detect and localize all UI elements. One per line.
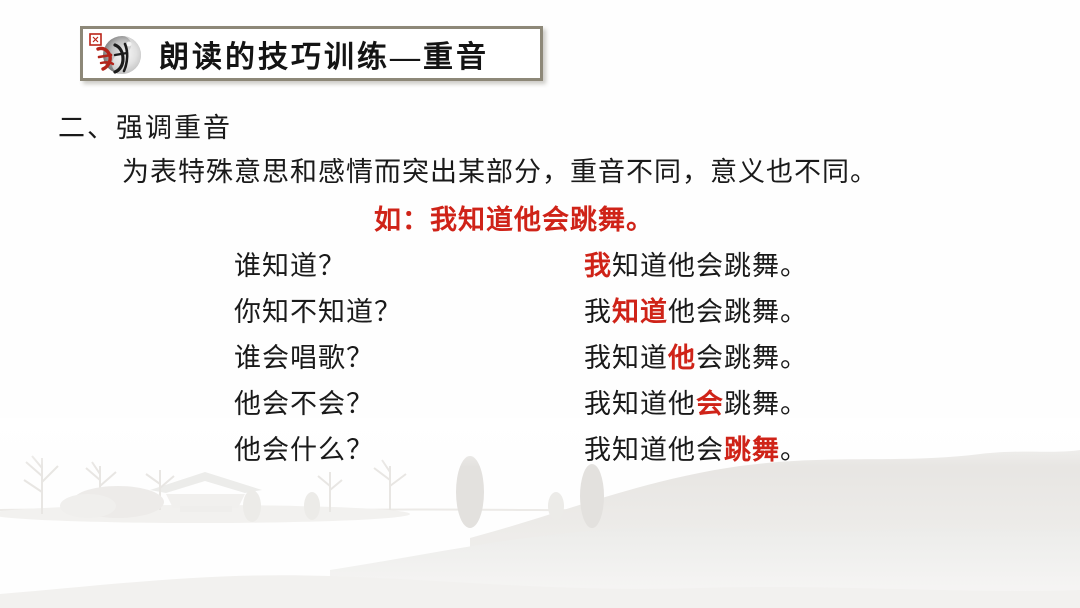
plain-character-run: 。: [780, 435, 808, 465]
list-item: 你知不知道？ 我知道他会跳舞。: [0, 286, 1080, 332]
question-text: 他会什么？: [234, 428, 374, 467]
stressed-character: 跳舞: [724, 435, 780, 465]
stressed-character: 我: [584, 251, 612, 281]
lead-paragraph: 为表特殊意思和感情而突出某部分，重音不同，意义也不同。: [122, 150, 878, 189]
plain-character-run: 知道他会跳舞。: [612, 251, 808, 281]
plain-character-run: 我知道: [584, 343, 668, 373]
list-item: 谁知道？ 我知道他会跳舞。: [0, 240, 1080, 286]
answer-text: 我知道他会跳舞。: [584, 290, 808, 329]
section-heading: 二、强调重音: [58, 106, 232, 145]
lang-calligraphy-seal-icon: [85, 29, 147, 78]
stress-examples-list: 谁知道？ 我知道他会跳舞。 你知不知道？ 我知道他会跳舞。 谁会唱歌？ 我知道他…: [0, 240, 1080, 470]
answer-text: 我知道他会跳舞。: [584, 336, 808, 375]
plain-character-run: 我: [584, 297, 612, 327]
list-item: 谁会唱歌？ 我知道他会跳舞。: [0, 332, 1080, 378]
list-item: 他会不会？ 我知道他会跳舞。: [0, 378, 1080, 424]
example-sentence: 如：我知道他会跳舞。: [374, 198, 654, 237]
answer-text: 我知道他会跳舞。: [584, 428, 808, 467]
slide-content: 二、强调重音 为表特殊意思和感情而突出某部分，重音不同，意义也不同。 如：我知道…: [0, 0, 1080, 608]
list-item: 他会什么？ 我知道他会跳舞。: [0, 424, 1080, 470]
plain-character-run: 我知道他: [584, 389, 696, 419]
question-text: 他会不会？: [234, 382, 374, 421]
page-title: 朗读的技巧训练—重音: [159, 32, 489, 76]
question-text: 谁会唱歌？: [234, 336, 374, 375]
answer-text: 我知道他会跳舞。: [584, 244, 808, 283]
plain-character-run: 跳舞。: [724, 389, 808, 419]
stressed-character: 知道: [612, 297, 668, 327]
plain-character-run: 他会跳舞。: [668, 297, 808, 327]
answer-text: 我知道他会跳舞。: [584, 382, 808, 421]
plain-character-run: 会跳舞。: [696, 343, 808, 373]
stressed-character: 会: [696, 389, 724, 419]
question-text: 你知不知道？: [234, 290, 402, 329]
stressed-character: 他: [668, 343, 696, 373]
question-text: 谁知道？: [234, 244, 346, 283]
slide-title-box: 朗读的技巧训练—重音: [80, 26, 543, 81]
slide: 朗读的技巧训练—重音 二、强调重音 为表特殊意思和感情而突出某部分，重音不同，意…: [0, 0, 1080, 608]
plain-character-run: 我知道他会: [584, 435, 724, 465]
